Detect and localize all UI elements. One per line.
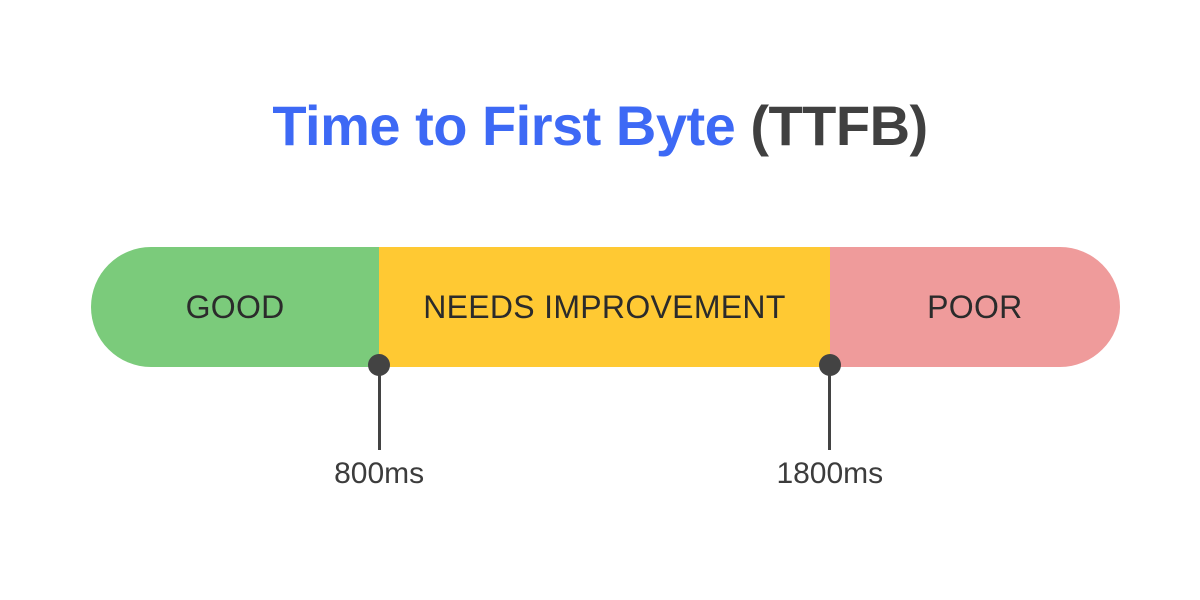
bar-segment-poor: POOR <box>830 247 1120 367</box>
page-title-primary: Time to First Byte <box>272 94 735 157</box>
threshold-value-1800ms: 1800ms <box>700 457 960 491</box>
bar-segment-poor-label: POOR <box>927 289 1022 326</box>
bar-segment-good: GOOD <box>91 247 379 367</box>
bar-segment-needs-improvement: NEEDS IMPROVEMENT <box>379 247 830 367</box>
page-title-secondary: (TTFB) <box>735 94 927 157</box>
ttfb-threshold-chart: Time to First Byte (TTFB) GOOD NEEDS IMP… <box>0 0 1200 600</box>
threshold-value-800ms: 800ms <box>249 457 509 491</box>
threshold-leader-line <box>828 365 831 450</box>
threshold-leader-line <box>378 365 381 450</box>
page-title: Time to First Byte (TTFB) <box>0 90 1200 162</box>
bar-segment-needs-improvement-label: NEEDS IMPROVEMENT <box>423 289 785 326</box>
threshold-bar: GOOD NEEDS IMPROVEMENT POOR <box>91 247 1120 367</box>
bar-segment-good-label: GOOD <box>186 289 285 326</box>
